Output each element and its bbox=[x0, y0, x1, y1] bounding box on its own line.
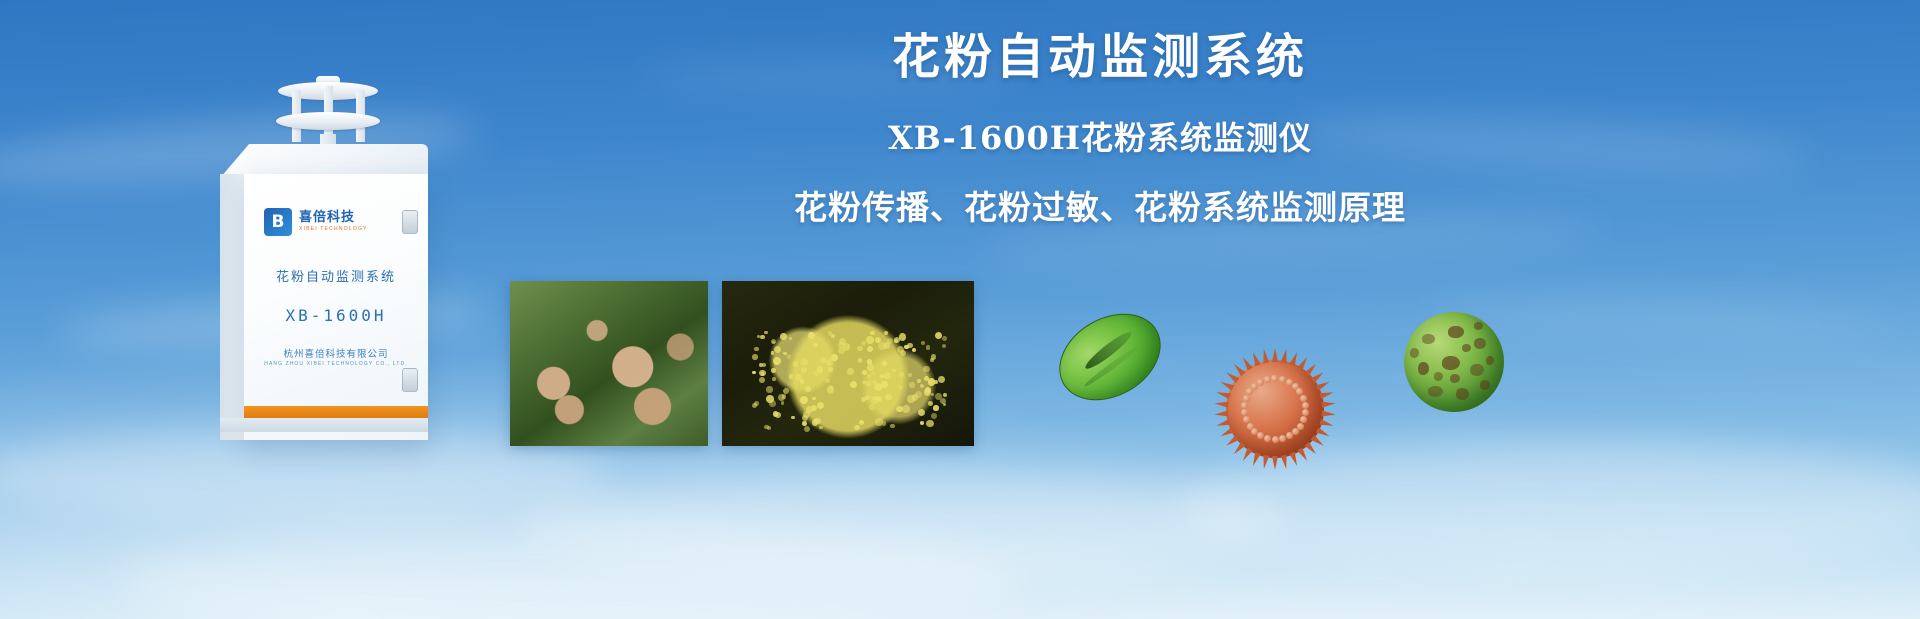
pollen-speck bbox=[884, 331, 888, 335]
pollen-speck bbox=[878, 384, 882, 388]
pollen-speck bbox=[828, 367, 833, 372]
pollen-surface-spot bbox=[1450, 374, 1460, 383]
brand-logo-text: 喜倍科技 XIBEI TECHNOLOGY bbox=[299, 211, 368, 232]
pollen-speck bbox=[861, 341, 866, 346]
pollen-monitor-device: B 喜倍科技 XIBEI TECHNOLOGY 花粉自动监测系统 XB-1600… bbox=[198, 78, 448, 430]
pollen-speck bbox=[752, 403, 757, 408]
pollen-speck bbox=[812, 397, 816, 401]
pollen-speck bbox=[759, 377, 765, 383]
pollen-spike bbox=[1216, 419, 1231, 429]
pollen-speck bbox=[890, 424, 894, 428]
pollen-surface-spot bbox=[1474, 322, 1483, 330]
pollen-speck bbox=[783, 388, 789, 394]
pollen-speck bbox=[908, 373, 912, 377]
pollen-speck bbox=[882, 361, 888, 367]
pollen-speck bbox=[801, 367, 807, 373]
pollen-speck bbox=[752, 354, 758, 360]
pollen-speck bbox=[943, 393, 947, 397]
pollen-spike-base bbox=[1302, 402, 1309, 409]
pollen-speck bbox=[867, 374, 871, 378]
device-company-en: HANG ZHOU XIBEI TECHNOLOGY CO., LTD. bbox=[244, 361, 428, 367]
pollen-speck bbox=[813, 371, 818, 376]
pollen-surface-spot bbox=[1474, 338, 1486, 349]
pollen-spike-base bbox=[1241, 409, 1248, 416]
pollen-speck bbox=[817, 402, 824, 409]
pollen-spike bbox=[1261, 455, 1269, 470]
pollen-surface-spot bbox=[1456, 388, 1469, 400]
cloud-wisp bbox=[520, 470, 1280, 580]
pollen-spike-base bbox=[1264, 435, 1271, 442]
pollen-speck bbox=[812, 419, 819, 426]
cabinet-latch-top[interactable] bbox=[402, 210, 418, 234]
headline-block: 花粉自动监测系统 XB-1600H花粉系统监测仪 花粉传播、花粉过敏、花粉系统监… bbox=[560, 30, 1640, 227]
pollen-speck bbox=[912, 348, 916, 352]
pollen-speck bbox=[935, 393, 941, 399]
pollen-spike-base bbox=[1241, 402, 1248, 409]
pollen-speck bbox=[819, 426, 822, 429]
pollen-speck bbox=[771, 368, 776, 373]
brand-name-cn: 喜倍科技 bbox=[299, 211, 368, 224]
pollen-surface-spot bbox=[1462, 344, 1471, 352]
pollen-speck bbox=[933, 405, 939, 411]
pollen-speck bbox=[789, 374, 794, 379]
pollen-speck bbox=[896, 406, 903, 413]
pollen-speck bbox=[866, 336, 873, 343]
pollen-speck bbox=[773, 357, 781, 365]
pollen-speck bbox=[771, 351, 774, 354]
pollen-spike-base bbox=[1302, 409, 1309, 416]
pollen-speck bbox=[867, 346, 873, 352]
pollen-speck bbox=[921, 341, 925, 345]
pollen-speck bbox=[759, 370, 766, 377]
pollen-speck bbox=[857, 346, 862, 351]
pollen-speck bbox=[894, 339, 898, 343]
pollen-spike-base bbox=[1300, 395, 1307, 402]
pollen-speck bbox=[831, 354, 838, 361]
pollen-surface-spot bbox=[1442, 356, 1460, 370]
pollen-spike bbox=[1216, 389, 1231, 399]
green-ellipsoid-pollen-icon bbox=[1044, 296, 1177, 418]
pollen-speck bbox=[805, 386, 811, 392]
pollen-spike-base bbox=[1247, 423, 1254, 430]
pollen-speck bbox=[774, 346, 781, 353]
pollen-speck bbox=[876, 396, 882, 402]
pollen-speck bbox=[843, 343, 851, 351]
pollen-speck bbox=[942, 336, 947, 341]
pollen-speck bbox=[772, 341, 775, 344]
pollen-spike-base bbox=[1279, 376, 1286, 383]
pollen-speck bbox=[787, 354, 792, 359]
pollen-spike bbox=[1261, 348, 1269, 363]
cabinet-base bbox=[220, 418, 428, 432]
pollen-speck bbox=[808, 332, 815, 339]
radiation-shield-icon bbox=[276, 78, 380, 148]
pollen-speck bbox=[752, 371, 756, 375]
pollen-speck bbox=[909, 382, 915, 388]
pollen-speck bbox=[885, 394, 891, 400]
pollen-speck bbox=[926, 420, 934, 428]
pollen-spike-base bbox=[1271, 375, 1278, 382]
pollen-speck bbox=[847, 368, 854, 375]
pollen-speck bbox=[766, 386, 772, 392]
pollen-surface-spot bbox=[1410, 348, 1419, 358]
pollen-spike bbox=[1250, 452, 1261, 467]
pollen-speck bbox=[900, 350, 906, 356]
pollen-speck bbox=[926, 345, 931, 350]
cloud-wisp bbox=[1430, 292, 1891, 344]
pollen-speck bbox=[920, 421, 924, 425]
pollen-speck bbox=[918, 409, 925, 416]
pollen-speck bbox=[865, 395, 870, 400]
pollen-speck bbox=[872, 372, 875, 375]
pollen-surface-spot bbox=[1422, 334, 1435, 344]
pollen-speck bbox=[904, 345, 909, 350]
catkin-pollen-photo: 柳树花序花粉 bbox=[722, 281, 974, 446]
cabinet-top-panel bbox=[220, 144, 428, 178]
pollen-speck bbox=[803, 411, 811, 419]
pollen-speck bbox=[899, 386, 902, 389]
pollen-surface-spot bbox=[1480, 380, 1490, 390]
pollen-speck bbox=[881, 381, 888, 388]
pollen-spike bbox=[1281, 348, 1289, 363]
pollen-speck bbox=[907, 395, 915, 403]
pollen-surface-spot bbox=[1486, 356, 1494, 365]
pollen-surface-spot bbox=[1434, 372, 1443, 381]
green-spotted-pollen-icon bbox=[1404, 312, 1504, 412]
pollen-surface-spot bbox=[1428, 386, 1443, 397]
pollen-speck bbox=[917, 379, 921, 383]
pollen-speck bbox=[887, 338, 893, 344]
device-company-cn: 杭州喜倍科技有限公司 bbox=[244, 346, 428, 360]
pollen-spike bbox=[1289, 452, 1300, 467]
pollen-spike bbox=[1272, 456, 1278, 470]
pollen-speck bbox=[850, 381, 857, 388]
pollen-speck bbox=[793, 361, 798, 366]
pollen-speck bbox=[938, 376, 945, 383]
cabinet-side-panel bbox=[220, 174, 246, 440]
pollen-speck bbox=[838, 342, 843, 347]
pollen-speck bbox=[811, 405, 817, 411]
cedar-pollen-cones-photo: 柏树花粉球果 bbox=[510, 281, 708, 446]
pollen-speck bbox=[943, 403, 946, 406]
pollen-spike bbox=[1250, 351, 1261, 366]
cabinet-latch-bottom[interactable] bbox=[402, 368, 418, 392]
pollen-speck bbox=[875, 337, 881, 343]
pollen-speck bbox=[892, 369, 895, 372]
pollen-speck bbox=[870, 331, 874, 335]
pollen-spike-base bbox=[1279, 435, 1286, 442]
brand-name-en: XIBEI TECHNOLOGY bbox=[299, 227, 368, 232]
banner-title: 花粉自动监测系统 bbox=[560, 30, 1640, 85]
pollen-speck bbox=[804, 426, 810, 432]
pollen-speck bbox=[899, 372, 904, 377]
cabinet-accent-stripe bbox=[244, 406, 428, 418]
pollen-speck bbox=[931, 413, 937, 419]
pollen-speck bbox=[854, 425, 860, 431]
pollen-speck bbox=[923, 366, 929, 372]
pollen-spike bbox=[1322, 400, 1336, 407]
pollen-spike bbox=[1281, 455, 1289, 470]
pollen-speck bbox=[928, 401, 933, 406]
pollen-surface-spot bbox=[1448, 326, 1464, 338]
pollen-speck bbox=[760, 335, 765, 340]
pollen-speck bbox=[764, 425, 769, 430]
red-spiky-pollen-icon bbox=[1226, 360, 1324, 458]
pollen-speck bbox=[920, 384, 924, 388]
pollen-spike bbox=[1319, 419, 1334, 429]
banner-root: 花粉自动监测系统 XB-1600H花粉系统监测仪 花粉传播、花粉过敏、花粉系统监… bbox=[0, 0, 1920, 619]
pollen-speck bbox=[902, 405, 910, 413]
pollen-surface-spot bbox=[1470, 364, 1484, 376]
pollen-speck bbox=[899, 333, 907, 341]
pollen-speck bbox=[867, 364, 874, 371]
pollen-spike-base bbox=[1286, 432, 1293, 439]
pollen-speck bbox=[801, 358, 808, 365]
pollen-speck bbox=[813, 343, 817, 347]
pollen-speck bbox=[931, 393, 934, 396]
pollen-speck bbox=[800, 396, 808, 404]
pollen-speck bbox=[764, 331, 768, 335]
pollen-speck bbox=[800, 379, 805, 384]
pollen-speck bbox=[762, 363, 766, 367]
pollen-speck bbox=[783, 352, 786, 355]
pollen-speck bbox=[754, 347, 759, 352]
pollen-speck bbox=[865, 381, 870, 386]
pollen-speck bbox=[782, 394, 786, 398]
banner-subtitle: XB-1600H花粉系统监测仪 bbox=[560, 119, 1640, 157]
pollen-speck bbox=[882, 421, 887, 426]
pollen-speck bbox=[862, 381, 865, 384]
pollen-speck bbox=[859, 420, 864, 425]
device-model: XB-1600H bbox=[244, 306, 428, 325]
pollen-speck bbox=[772, 377, 776, 381]
pollen-spike bbox=[1319, 389, 1334, 399]
device-product-name: 花粉自动监测系统 bbox=[244, 266, 428, 285]
pollen-speck bbox=[858, 359, 862, 363]
pollen-speck bbox=[781, 401, 785, 405]
pollen-speck bbox=[930, 358, 934, 362]
pollen-speck bbox=[862, 370, 866, 374]
pollen-spike bbox=[1322, 410, 1336, 417]
pollen-spike-base bbox=[1264, 376, 1271, 383]
shield-disc bbox=[276, 112, 380, 130]
pollen-spike-base bbox=[1272, 436, 1279, 443]
pollen-speck bbox=[942, 344, 946, 348]
pollen-speck bbox=[791, 416, 794, 419]
pollen-spike-base bbox=[1292, 428, 1299, 435]
pollen-speck bbox=[827, 386, 834, 393]
brand-mark-icon: B bbox=[264, 208, 292, 236]
pollen-spike bbox=[1316, 379, 1331, 391]
cloud-wisp bbox=[120, 520, 1020, 619]
pollen-speck bbox=[869, 404, 875, 410]
pollen-speck bbox=[872, 380, 877, 385]
pollen-spike-base bbox=[1243, 395, 1250, 402]
pollen-speck bbox=[769, 400, 776, 407]
pollen-spike bbox=[1214, 410, 1228, 417]
pollen-speck bbox=[915, 391, 922, 398]
brand-logo: B 喜倍科技 XIBEI TECHNOLOGY bbox=[264, 208, 368, 236]
banner-tagline: 花粉传播、花粉过敏、花粉系统监测原理 bbox=[560, 188, 1640, 228]
pollen-spike bbox=[1272, 348, 1278, 362]
pollen-speck bbox=[802, 421, 806, 425]
pollen-speck bbox=[935, 332, 942, 339]
pollen-speck bbox=[878, 342, 885, 349]
pollen-spike bbox=[1214, 400, 1228, 407]
pollen-speck bbox=[789, 337, 793, 341]
pollen-speck bbox=[780, 333, 787, 340]
pollen-surface-spot bbox=[1418, 362, 1429, 375]
pollen-speck bbox=[825, 378, 830, 383]
